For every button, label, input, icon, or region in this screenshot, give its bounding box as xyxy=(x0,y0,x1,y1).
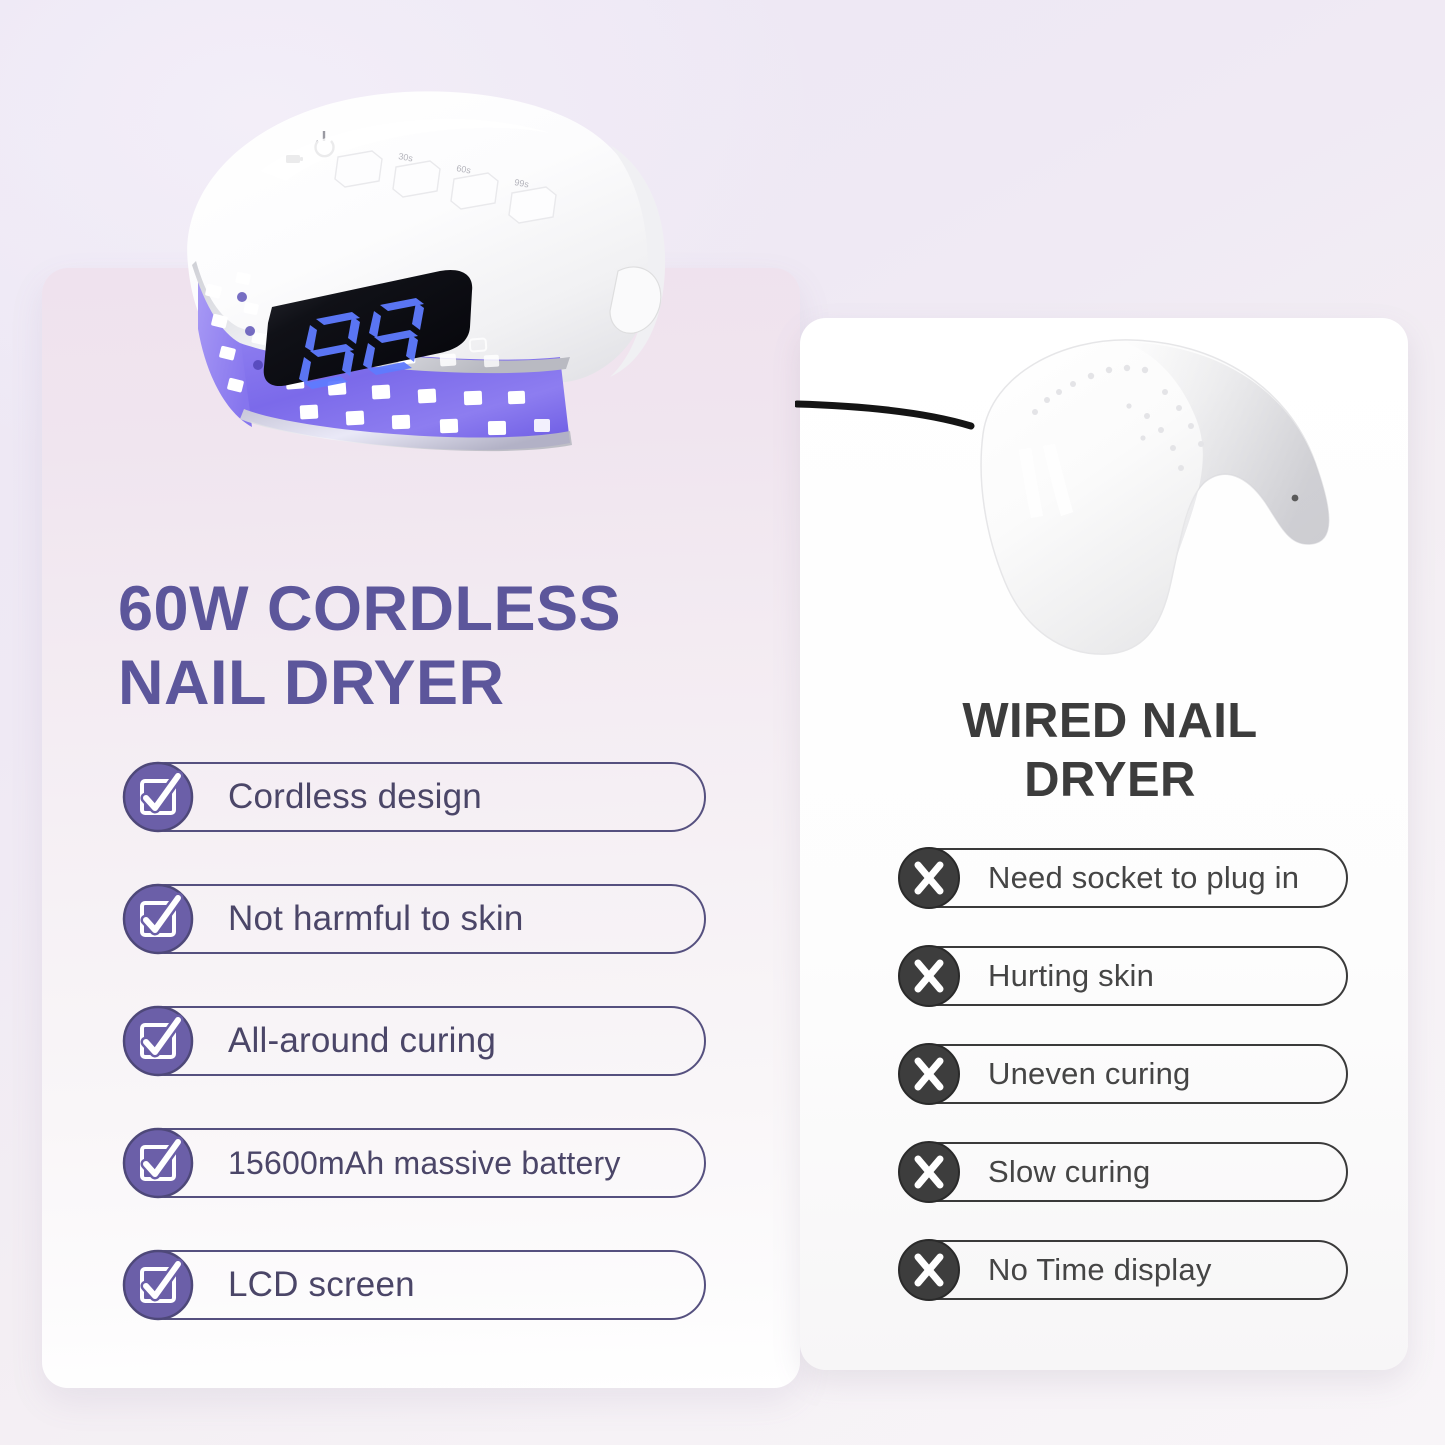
drawback-item[interactable]: Uneven curing xyxy=(902,1044,1348,1104)
drawback-item[interactable]: Hurting skin xyxy=(902,946,1348,1006)
x-icon xyxy=(896,1041,962,1107)
feature-item[interactable]: LCD screen xyxy=(130,1250,706,1320)
feature-label: LCD screen xyxy=(228,1250,415,1320)
check-icon xyxy=(121,882,195,956)
check-icon xyxy=(121,1126,195,1200)
drawback-item[interactable]: No Time display xyxy=(902,1240,1348,1300)
comparison-infographic: 30s 60s 99s 60W CORDLESS NAIL DRYER WIRE… xyxy=(0,0,1445,1445)
power-cord xyxy=(797,404,971,426)
drawback-label: Slow curing xyxy=(988,1142,1150,1202)
wired-drawback-list: Need socket to plug in Hurting skin Unev… xyxy=(902,848,1348,1338)
feature-label: All-around curing xyxy=(228,1006,496,1076)
drawback-item[interactable]: Need socket to plug in xyxy=(902,848,1348,908)
wired-panel-title: WIRED NAIL DRYER xyxy=(900,692,1320,810)
x-icon xyxy=(896,845,962,911)
cordless-nail-dryer-image: 30s 60s 99s xyxy=(140,75,700,535)
feature-label: 15600mAh massive battery xyxy=(228,1128,621,1198)
drawback-label: Hurting skin xyxy=(988,946,1154,1006)
indicator-dot xyxy=(1292,495,1299,502)
drawback-label: Need socket to plug in xyxy=(988,848,1299,908)
cordless-panel-title: 60W CORDLESS NAIL DRYER xyxy=(118,572,758,721)
feature-label: Not harmful to skin xyxy=(228,884,524,954)
feature-item[interactable]: 15600mAh massive battery xyxy=(130,1128,706,1198)
feature-item[interactable]: Cordless design xyxy=(130,762,706,832)
feature-pill xyxy=(130,1250,706,1320)
feature-label: Cordless design xyxy=(228,762,482,832)
feature-item[interactable]: Not harmful to skin xyxy=(130,884,706,954)
x-icon xyxy=(896,1237,962,1303)
x-icon xyxy=(896,1139,962,1205)
drawback-label: Uneven curing xyxy=(988,1044,1191,1104)
feature-item[interactable]: All-around curing xyxy=(130,1006,706,1076)
drawback-label: No Time display xyxy=(988,1240,1212,1300)
check-icon xyxy=(121,1248,195,1322)
cordless-feature-list: Cordless design Not harmful to skin xyxy=(130,762,706,1372)
wired-nail-dryer-image xyxy=(795,330,1355,660)
check-icon xyxy=(121,1004,195,1078)
drawback-item[interactable]: Slow curing xyxy=(902,1142,1348,1202)
check-icon xyxy=(121,760,195,834)
x-icon xyxy=(896,943,962,1009)
